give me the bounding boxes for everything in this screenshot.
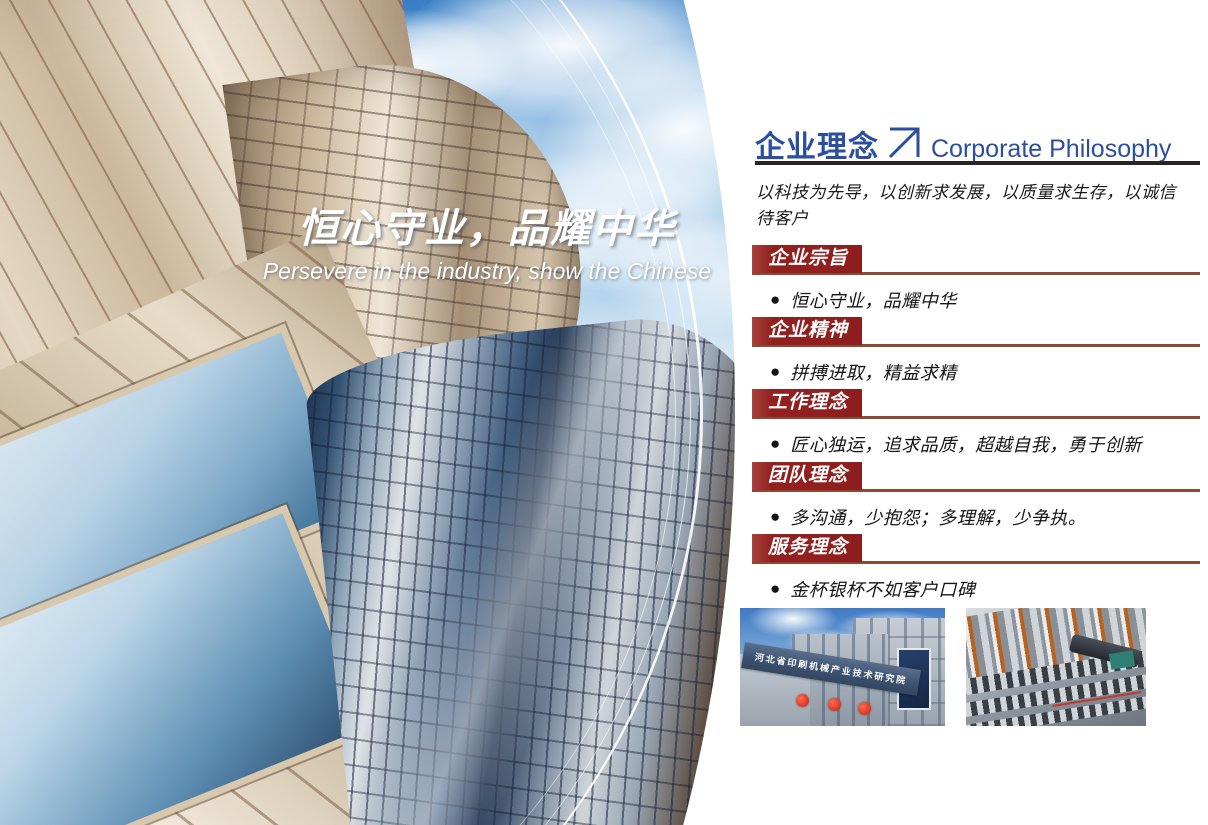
section-header: 工作理念	[752, 389, 1200, 419]
section-header: 企业精神	[752, 317, 1200, 347]
list-item: ● 匠心独运，追求品质，超越自我，勇于创新	[752, 433, 1200, 457]
page-title: 企业理念 Corporate Philosophy	[755, 122, 1171, 166]
philosophy-section: 企业精神 ● 拼搏进取，精益求精	[752, 317, 1200, 385]
philosophy-section: 工作理念 ● 匠心独运，追求品质，超越自我，勇于创新	[752, 389, 1200, 457]
glass-tower-sheen	[301, 305, 740, 825]
thumbnail-gallery: 河北省印刷机械产业技术研究院	[740, 608, 1208, 726]
red-lantern-icon	[858, 702, 871, 715]
list-item-label: 多沟通，少抱怨；多理解，少争执。	[790, 506, 1086, 530]
filled-circle-bullet-icon: ●	[770, 433, 780, 456]
filled-circle-bullet-icon: ●	[770, 361, 780, 384]
list-item-label: 匠心独运，追求品质，超越自我，勇于创新	[790, 433, 1142, 457]
list-item-label: 金杯银杯不如客户口碑	[790, 578, 975, 602]
list-item: ● 恒心守业，品耀中华	[752, 289, 1200, 313]
header-divider	[755, 161, 1200, 165]
filled-circle-bullet-icon: ●	[770, 578, 780, 601]
red-lantern-icon	[828, 698, 841, 711]
list-item-label: 拼搏进取，精益求精	[790, 361, 957, 385]
section-title: 工作理念	[752, 389, 862, 417]
section-title: 企业宗旨	[752, 245, 862, 273]
page-title-en: Corporate Philosophy	[931, 135, 1171, 164]
page-title-cn: 企业理念	[755, 122, 879, 166]
filled-circle-bullet-icon: ●	[770, 289, 780, 312]
arrow-up-right-icon	[887, 126, 921, 160]
content-panel: 企业理念 Corporate Philosophy 以科技为先导，以创新求发展，…	[740, 0, 1208, 825]
red-lantern-icon	[796, 694, 809, 707]
philosophy-section: 团队理念 ● 多沟通，少抱怨；多理解，少争执。	[752, 462, 1200, 530]
philosophy-section: 企业宗旨 ● 恒心守业，品耀中华	[752, 245, 1200, 313]
list-item: ● 多沟通，少抱怨；多理解，少争执。	[752, 506, 1200, 530]
section-header: 团队理念	[752, 462, 1200, 492]
printing-machinery-photo[interactable]	[966, 608, 1146, 726]
intro-paragraph: 以科技为先导，以创新求发展，以质量求生存，以诚信待客户	[756, 180, 1186, 231]
list-item: ● 拼搏进取，精益求精	[752, 361, 1200, 385]
philosophy-section: 服务理念 ● 金杯银杯不如客户口碑	[752, 534, 1200, 602]
filled-circle-bullet-icon: ●	[770, 506, 780, 529]
hero-image-panel: 恒心守业，品耀中华 Persevere in the industry, sho…	[0, 0, 740, 825]
list-item: ● 金杯银杯不如客户口碑	[752, 578, 1200, 602]
section-title: 服务理念	[752, 534, 862, 562]
section-title: 团队理念	[752, 462, 862, 490]
institute-building-photo[interactable]: 河北省印刷机械产业技术研究院	[740, 608, 945, 726]
section-header: 企业宗旨	[752, 245, 1200, 275]
list-item-label: 恒心守业，品耀中华	[790, 289, 957, 313]
hero-image-clip: 恒心守业，品耀中华 Persevere in the industry, sho…	[0, 0, 740, 825]
section-header: 服务理念	[752, 534, 1200, 564]
section-title: 企业精神	[752, 317, 862, 345]
